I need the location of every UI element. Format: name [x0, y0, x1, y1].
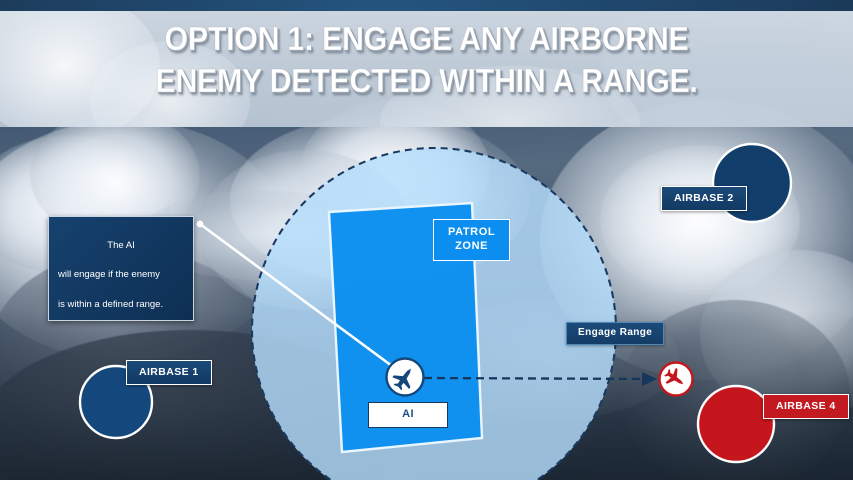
top-accent-strip	[0, 0, 853, 11]
slide-title: OPTION 1: ENGAGE ANY AIRBORNE ENEMY DETE…	[34, 18, 819, 102]
engage-range-label[interactable]: Engage Range	[566, 322, 664, 345]
slide-canvas: OPTION 1: ENGAGE ANY AIRBORNE ENEMY DETE…	[0, 0, 853, 480]
friendly-jet-icon[interactable]	[387, 359, 424, 396]
callout-line-1: The AI	[58, 239, 184, 254]
airbase-2-label[interactable]: AIRBASE 2	[661, 186, 747, 211]
airbase-4-label[interactable]: AIRBASE 4	[763, 394, 849, 419]
ai-explanation-callout: The AI will engage if the enemy is withi…	[48, 216, 194, 321]
patrol-zone-label-line1: PATROL	[448, 226, 495, 240]
ai-label[interactable]: AI	[368, 402, 448, 428]
patrol-zone-label[interactable]: PATROL ZONE	[433, 219, 510, 261]
enemy-jet-icon[interactable]	[660, 363, 693, 396]
airbase-1-label[interactable]: AIRBASE 1	[126, 360, 212, 385]
patrol-zone-label-line2: ZONE	[448, 240, 495, 254]
callout-line-3: is within a defined range.	[58, 299, 163, 310]
callout-line-2: will engage if the enemy	[58, 269, 160, 280]
